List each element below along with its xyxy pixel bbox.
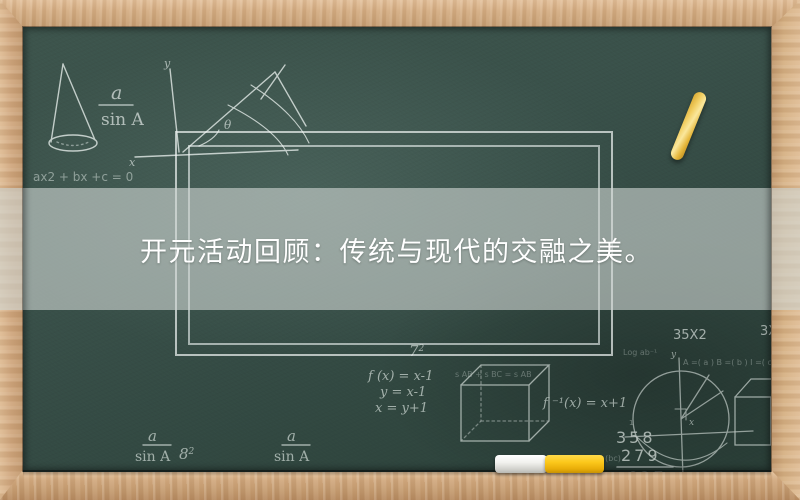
law-of-sines-top: a sin A bbox=[101, 82, 145, 130]
addend-358: 358 bbox=[616, 428, 656, 447]
multiply-3x2: 3X2 bbox=[760, 324, 771, 339]
quadratic-equation: ax2 + bx +c = 0 bbox=[33, 170, 133, 184]
svg-text:82: 82 bbox=[179, 445, 195, 463]
angle-theta-label: θ bbox=[224, 118, 232, 132]
multiply-35x2: 35X2 bbox=[673, 328, 707, 343]
chalkboard-banner-image: a sin A y x θ bbox=[0, 0, 800, 500]
svg-text:y = x-1: y = x-1 bbox=[379, 385, 426, 400]
chalk-stick-yellow-ledge bbox=[545, 455, 604, 473]
svg-text:f (x) = x-1: f (x) = x-1 bbox=[367, 369, 433, 384]
frame-top-rail bbox=[0, 0, 800, 27]
axis-y-label-topleft: y bbox=[163, 57, 171, 70]
axis-x-label-topleft: x bbox=[129, 156, 136, 169]
svg-text:sin A: sin A bbox=[101, 110, 145, 130]
svg-text:sin A: sin A bbox=[135, 449, 171, 465]
svg-text:sin A: sin A bbox=[274, 449, 310, 465]
svg-text:f ⁻¹(x) = x+1: f ⁻¹(x) = x+1 bbox=[542, 396, 627, 411]
svg-text:Log ab⁻¹: Log ab⁻¹ bbox=[623, 348, 657, 357]
carry-digit: 1 bbox=[629, 419, 633, 427]
cube-drawing-right bbox=[735, 379, 771, 445]
svg-text:y: y bbox=[670, 350, 677, 360]
addend-279: 279 bbox=[621, 446, 661, 465]
chalk-stick-yellow-floating bbox=[669, 90, 708, 162]
svg-text:x: x bbox=[689, 418, 694, 428]
page-title: 开元活动回顾：传统与现代的交融之美。 bbox=[140, 230, 653, 269]
svg-text:x = y+1: x = y+1 bbox=[375, 401, 428, 416]
svg-text:a: a bbox=[148, 427, 157, 445]
svg-text:s AB + s BC = s AB: s AB + s BC = s AB bbox=[455, 370, 532, 379]
svg-text:a: a bbox=[287, 427, 296, 445]
headline-band: 开元活动回顾：传统与现代的交融之美。 bbox=[0, 188, 800, 310]
frame-bottom-ledge bbox=[0, 471, 800, 500]
cube-drawing bbox=[461, 365, 549, 441]
chalk-stick-white-ledge bbox=[495, 455, 547, 473]
svg-text:a: a bbox=[111, 82, 122, 104]
svg-text:A =( a ) B =( b ) I =( c ): A =( a ) B =( b ) I =( c ) bbox=[683, 358, 771, 367]
cone-drawing bbox=[49, 64, 97, 151]
sum-637: 637 bbox=[627, 468, 667, 472]
circle-graph bbox=[625, 358, 753, 472]
